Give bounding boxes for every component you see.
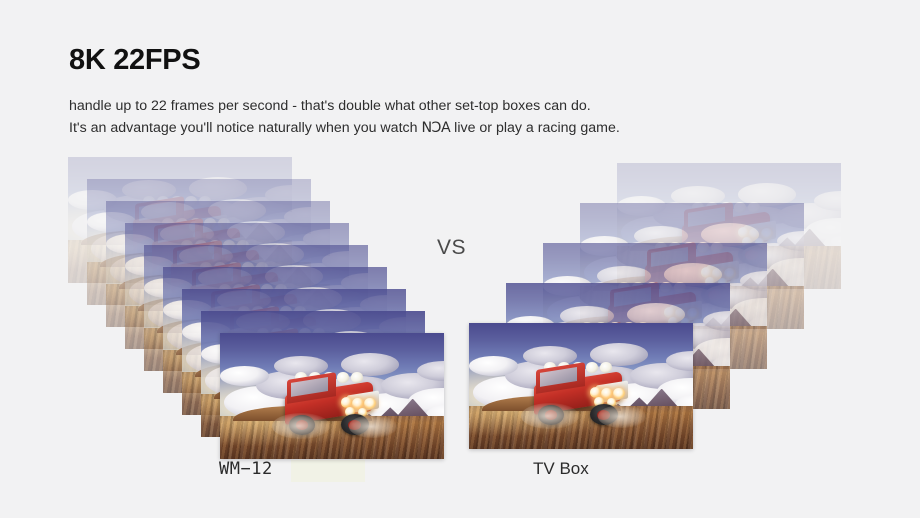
redaction-box xyxy=(291,460,365,482)
scene xyxy=(469,323,693,449)
page-title: 8K 22FPS xyxy=(69,44,200,77)
offroad-truck xyxy=(278,371,386,437)
roof-light xyxy=(351,372,363,382)
caption-wm12: WM−12 xyxy=(219,459,273,479)
dust-cloud xyxy=(272,413,330,439)
dust-cloud xyxy=(521,403,579,429)
caption-tvbox: TV Box xyxy=(533,459,589,479)
glitch-word: NƆA xyxy=(421,120,450,136)
dust-cloud xyxy=(598,405,645,427)
cloud xyxy=(469,356,518,376)
roof-light xyxy=(600,362,612,372)
cloud xyxy=(220,366,269,386)
roof-light xyxy=(586,362,598,372)
headlight xyxy=(601,388,613,399)
subtitle-line-2: It's an advantage you'll notice naturall… xyxy=(69,117,620,139)
roof-light xyxy=(337,372,349,382)
scene xyxy=(220,333,444,459)
headlight xyxy=(352,398,364,409)
subtitle-line-1: handle up to 22 frames per second - that… xyxy=(69,95,620,117)
subtitle-line-2-after: live or play a racing game. xyxy=(450,120,620,136)
frame-front xyxy=(469,323,693,449)
subtitle-line-2-before: It's an advantage you'll notice naturall… xyxy=(69,120,421,136)
dust-cloud xyxy=(349,415,396,437)
frame-front xyxy=(220,333,444,459)
page-subtitle: handle up to 22 frames per second - that… xyxy=(69,95,620,139)
offroad-truck xyxy=(527,361,635,427)
slide-canvas: 8K 22FPS handle up to 22 frames per seco… xyxy=(0,0,920,518)
vs-label: VS xyxy=(437,236,466,260)
